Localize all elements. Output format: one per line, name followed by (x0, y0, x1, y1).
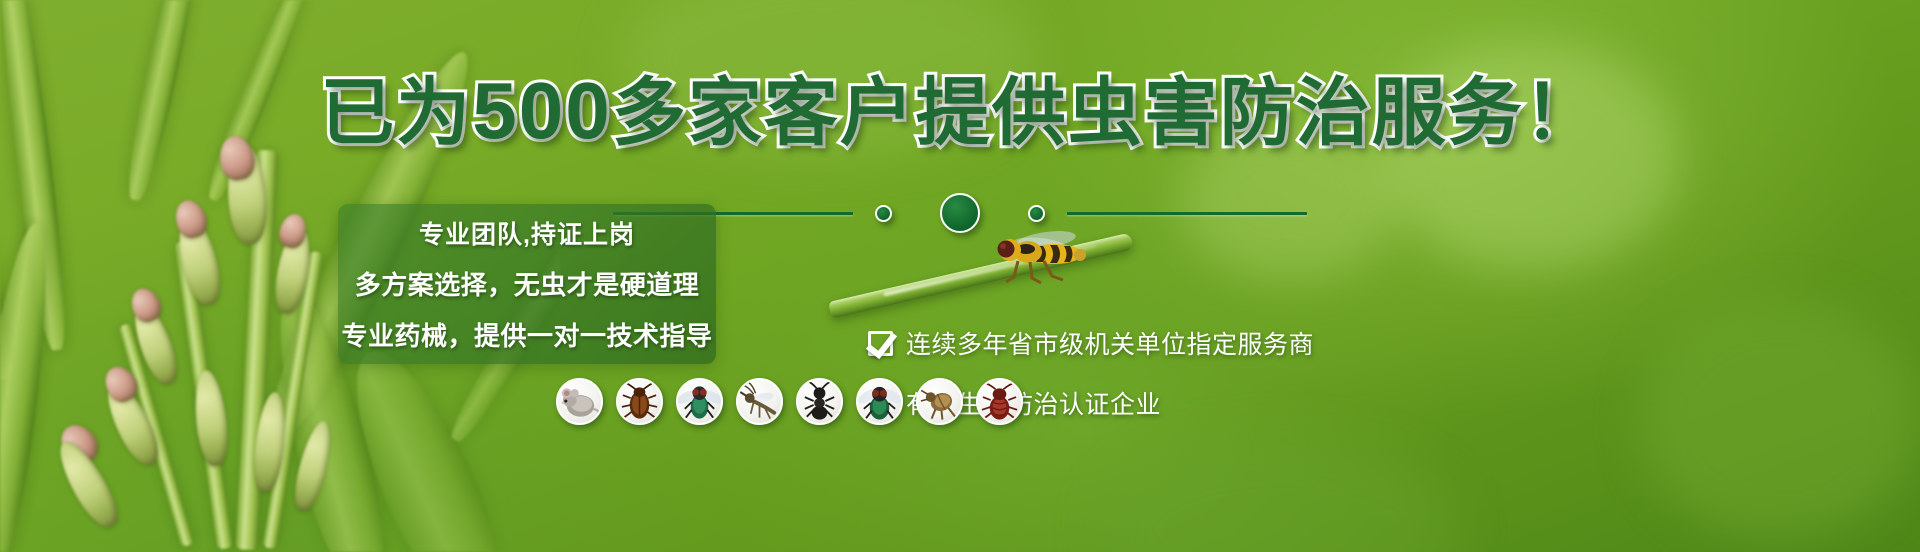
pest-badge-mouse[interactable] (556, 378, 603, 425)
pest-badge-mosquito[interactable] (736, 378, 783, 425)
divider-dot-large (940, 193, 980, 233)
checkbox-checked-icon (868, 331, 893, 356)
headline-prefix: 已为 (320, 71, 472, 154)
divider-dot-small-right (1028, 205, 1045, 222)
grass-stem (828, 232, 1134, 318)
bokeh-blob (1100, 440, 1460, 552)
headline-count: 500 (472, 66, 611, 155)
credential-row: 连续多年省市级机关单位指定服务商 (868, 325, 1314, 361)
banner-headline: 已为500多家客户提供虫害防治服务！ (0, 72, 1920, 152)
housefly-icon (858, 380, 901, 424)
pest-control-hero-banner: 已为500多家客户提供虫害防治服务！ 专业团队,持证上岗 多方案选择，无虫才是硬… (0, 0, 1920, 552)
pest-badge-cockroach[interactable] (616, 378, 663, 425)
pest-badge-ant[interactable] (796, 378, 843, 425)
divider-dot-small-left (875, 205, 892, 222)
mosquito-icon (738, 380, 781, 424)
ant-icon (798, 380, 841, 424)
headline-suffix: 多家客户提供虫害防治服务！ (612, 71, 1600, 154)
selling-point-line-1: 专业团队,持证上岗 (419, 215, 635, 251)
selling-point-line-3: 专业药械，提供一对一技术指导 (342, 316, 713, 353)
mouse-icon (558, 380, 601, 424)
cockroach-icon (618, 380, 661, 424)
decorative-divider (0, 196, 1920, 230)
selling-point-line-2: 多方案选择，无虫才是硬道理 (355, 265, 700, 302)
fly-icon (678, 380, 721, 424)
divider-line-right (1067, 212, 1307, 215)
flea-icon (918, 380, 961, 424)
pest-types-row (556, 378, 1023, 425)
pest-badge-flea[interactable] (916, 378, 963, 425)
pest-badge-fly[interactable] (676, 378, 723, 425)
pest-badge-termite[interactable] (976, 378, 1023, 425)
selling-points-panel: 专业团队,持证上岗 多方案选择，无虫才是硬道理 专业药械，提供一对一技术指导 (338, 204, 716, 364)
pest-badge-housefly[interactable] (856, 378, 903, 425)
hoverfly-icon (988, 228, 1096, 286)
termite-icon (978, 380, 1021, 424)
bokeh-blob (1640, 300, 1920, 540)
credential-label: 连续多年省市级机关单位指定服务商 (906, 325, 1314, 361)
